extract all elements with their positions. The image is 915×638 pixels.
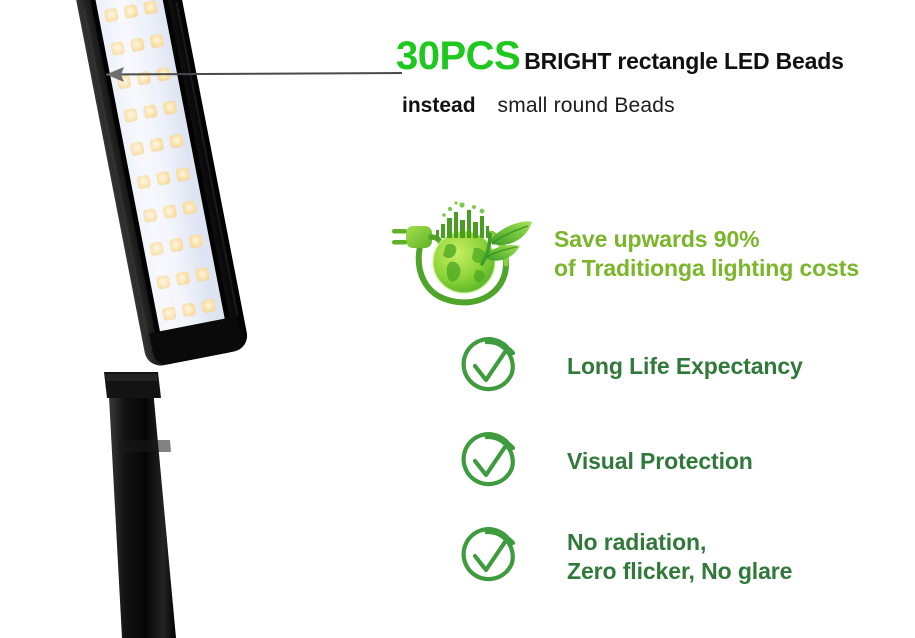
led-bead-pointer-arrow — [80, 56, 405, 92]
benefit-label-long-life: Long Life Expectancy — [567, 352, 803, 381]
benefit-label-no-radiation: No radiation, Zero flicker, No glare — [567, 528, 792, 587]
benefit-label-eco-savings: Save upwards 90% of Traditionga lighting… — [554, 225, 859, 284]
benefit-row-eco-savings: Save upwards 90% of Traditionga lighting… — [386, 200, 859, 308]
product-infographic: 30PCSBRIGHT rectangle LED Beads insteads… — [0, 0, 915, 638]
benefit-label-visual-protection: Visual Protection — [567, 447, 753, 476]
headline-rest: BRIGHT rectangle LED Beads — [520, 48, 843, 74]
pcs-count: 30PCS — [396, 34, 520, 78]
lamp-stem — [104, 372, 176, 638]
benefit-row-visual-protection: Visual Protection — [455, 428, 753, 496]
headline-line-2: insteadsmall round Beads — [396, 94, 915, 118]
benefit-row-no-radiation: No radiation, Zero flicker, No glare — [455, 523, 792, 591]
check-circle-icon — [455, 523, 523, 591]
check-circle-icon — [455, 428, 523, 496]
headline-line-1: 30PCSBRIGHT rectangle LED Beads — [396, 36, 915, 76]
instead-word: instead — [402, 94, 476, 117]
eco-globe-plug-icon — [386, 200, 536, 308]
headline-block: 30PCSBRIGHT rectangle LED Beads insteads… — [396, 36, 915, 118]
instead-rest: small round Beads — [476, 94, 675, 117]
check-circle-icon — [455, 333, 523, 401]
lamp-illustration — [0, 0, 260, 638]
leaf-icon — [482, 221, 532, 264]
benefit-row-long-life: Long Life Expectancy — [455, 333, 803, 401]
